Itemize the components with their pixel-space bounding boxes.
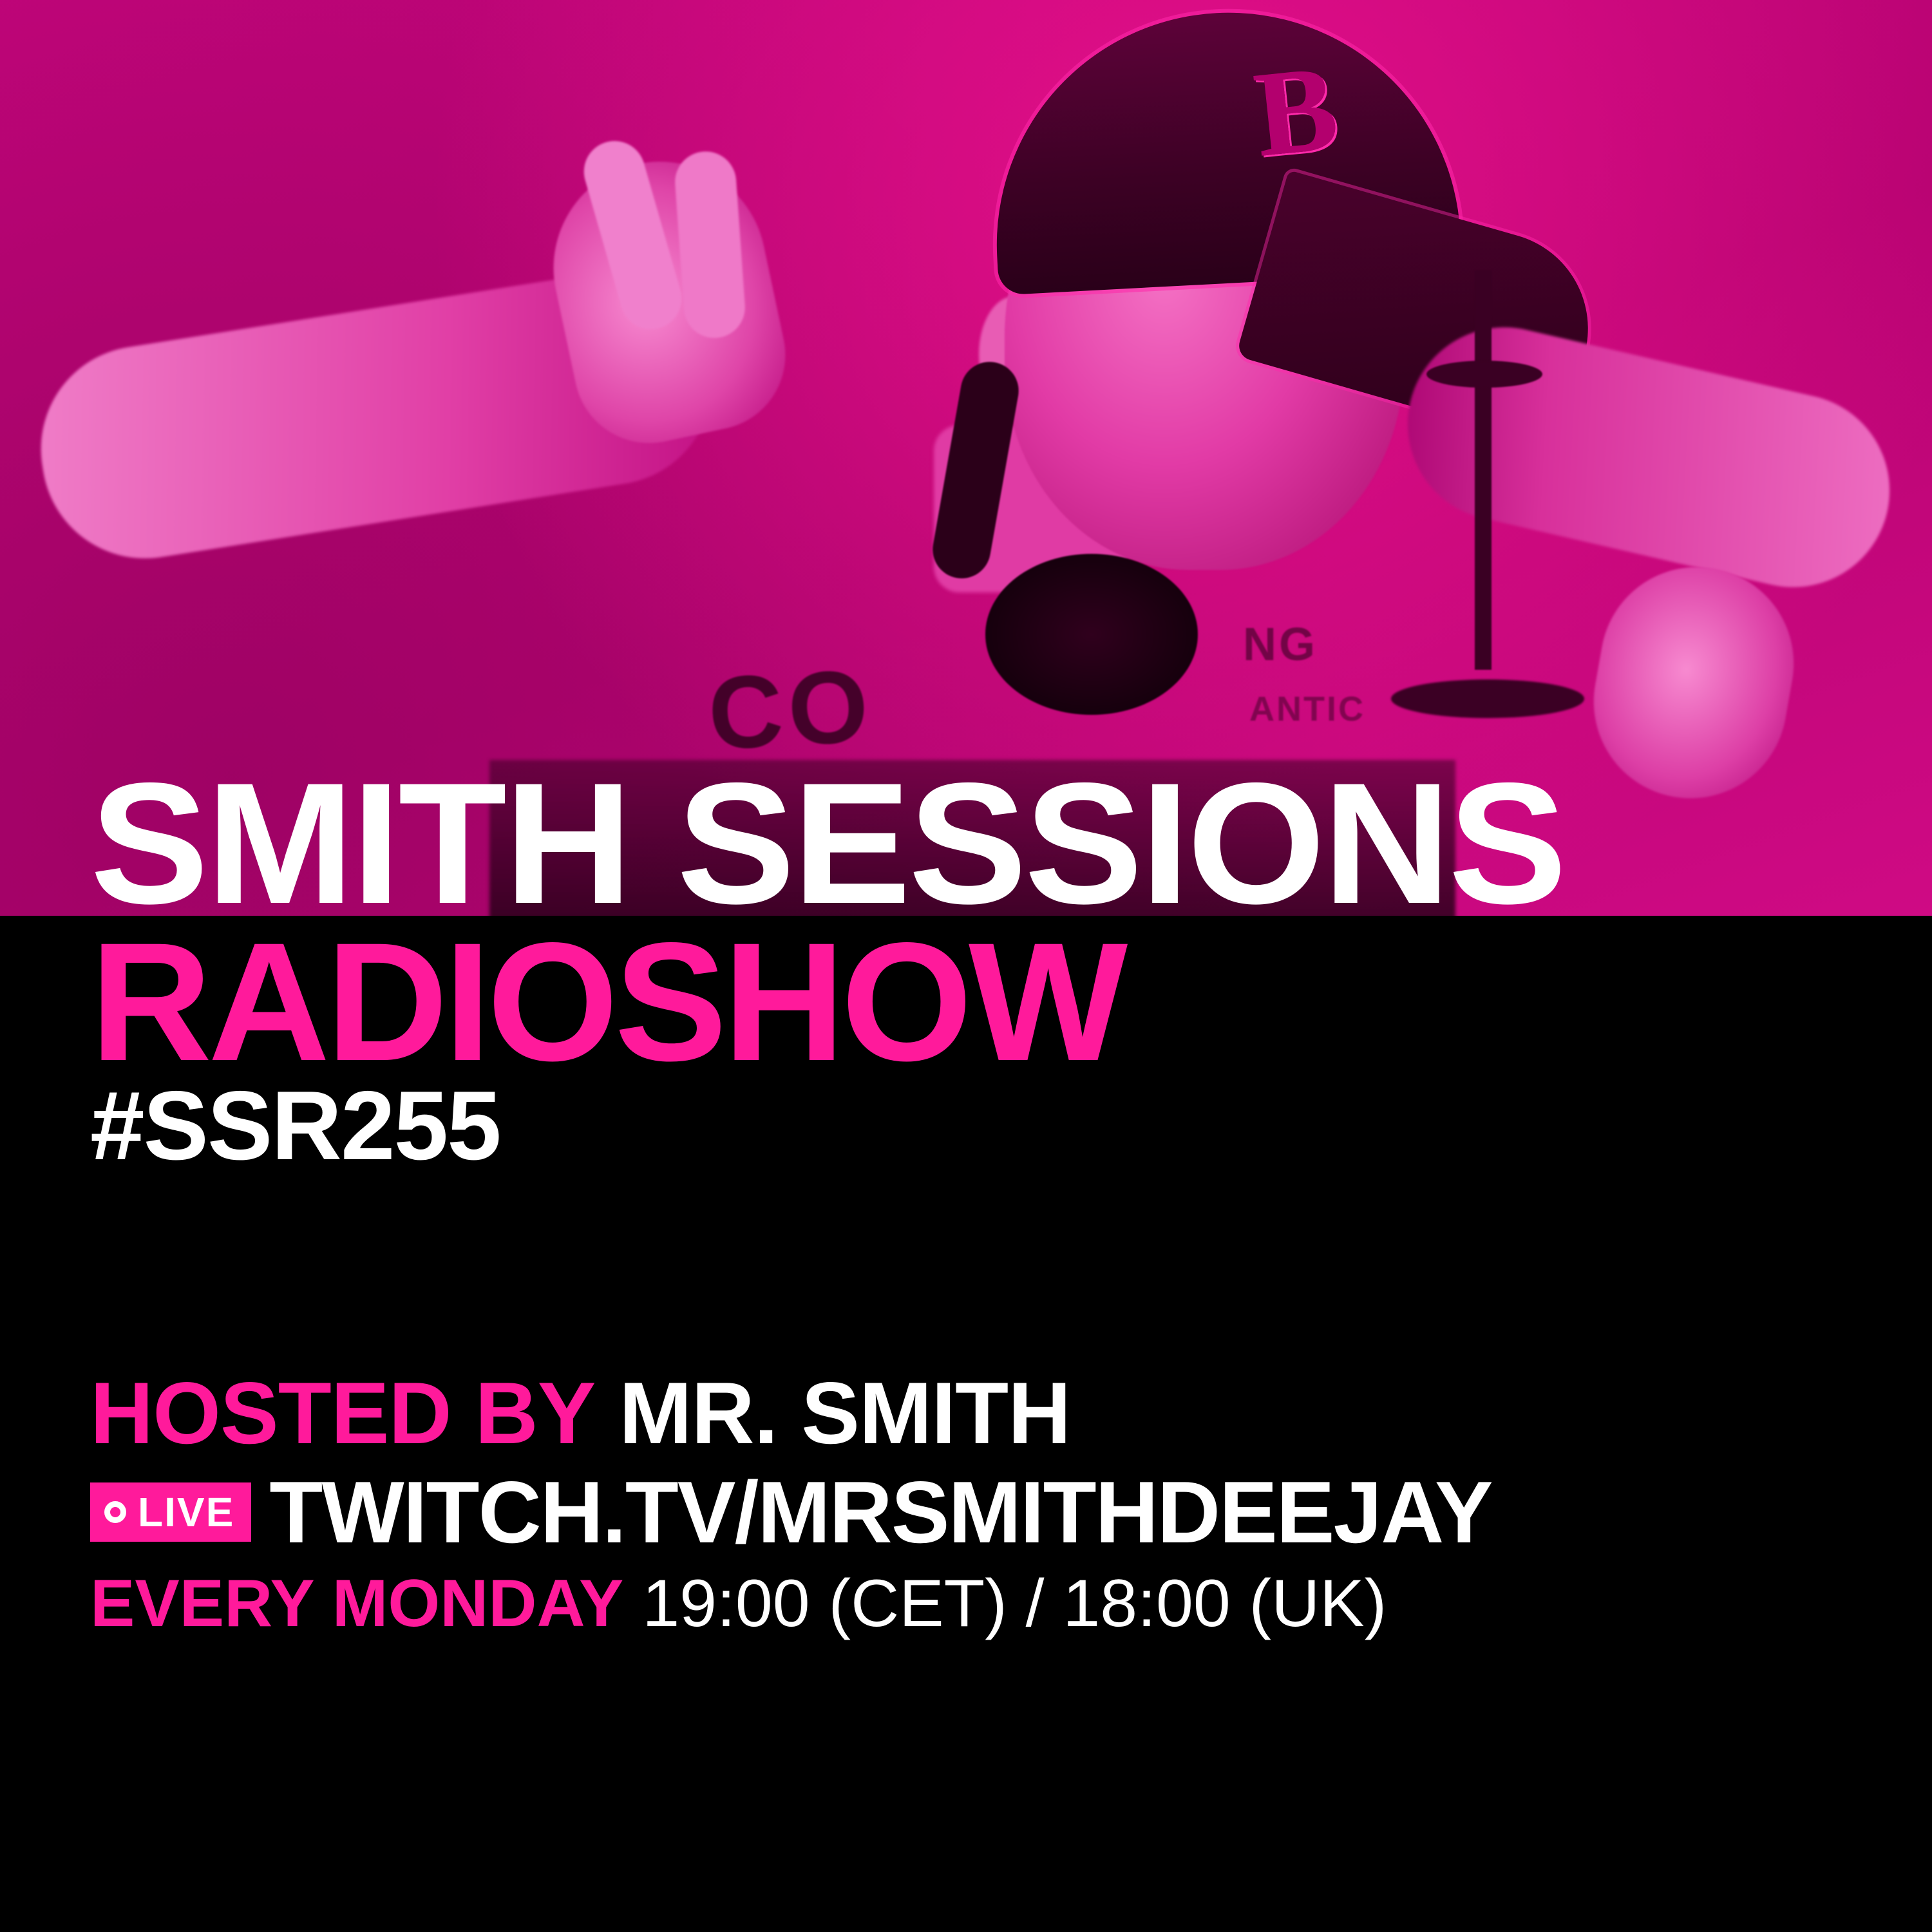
shirt-graphic-secondary: NG: [1243, 618, 1318, 671]
show-title-line-2: RADIOSHOW: [90, 918, 1124, 1086]
peace-finger-two: [673, 149, 747, 340]
schedule-line: EVERY MONDAY 19:00 (CET) / 18:00 (UK): [90, 1570, 1492, 1637]
host-name: MR. SMITH: [619, 1364, 1070, 1462]
schedule-times: 19:00 (CET) / 18:00 (UK): [642, 1566, 1387, 1641]
microphone-stand: [1475, 270, 1492, 670]
stream-line[interactable]: LIVE TWITCH.TV/MRSMITHDEEJAY: [90, 1468, 1492, 1556]
live-badge-label: LIVE: [138, 1492, 234, 1533]
show-info-block: HOSTED BY MR. SMITH LIVE TWITCH.TV/MRSMI…: [90, 1364, 1492, 1637]
headphone-earcup: [985, 554, 1198, 715]
dj-right-hand: [1578, 552, 1809, 814]
live-badge: LIVE: [90, 1482, 251, 1542]
twitch-url[interactable]: TWITCH.TV/MRSMITHDEEJAY: [269, 1468, 1492, 1556]
hosted-by-label: HOSTED BY: [90, 1364, 595, 1462]
cap-logo-icon: B: [1249, 46, 1378, 186]
host-line: HOSTED BY MR. SMITH: [90, 1364, 1492, 1462]
dj-right-arm: [1388, 308, 1909, 606]
schedule-recurrence: EVERY MONDAY: [90, 1566, 623, 1641]
episode-number: #SSR255: [90, 1077, 500, 1175]
microphone-top: [1426, 361, 1542, 388]
microphone-base-plate: [1391, 679, 1584, 718]
shirt-graphic-tertiary: ANTIC: [1249, 689, 1365, 729]
show-title-line-1: SMITH SESSIONS: [90, 757, 1564, 929]
radioshow-promo-poster: CO NG ANTIC B #SSR SMITH SESSIONS RADIOS…: [0, 0, 1932, 1932]
record-dot-icon: [104, 1501, 126, 1523]
